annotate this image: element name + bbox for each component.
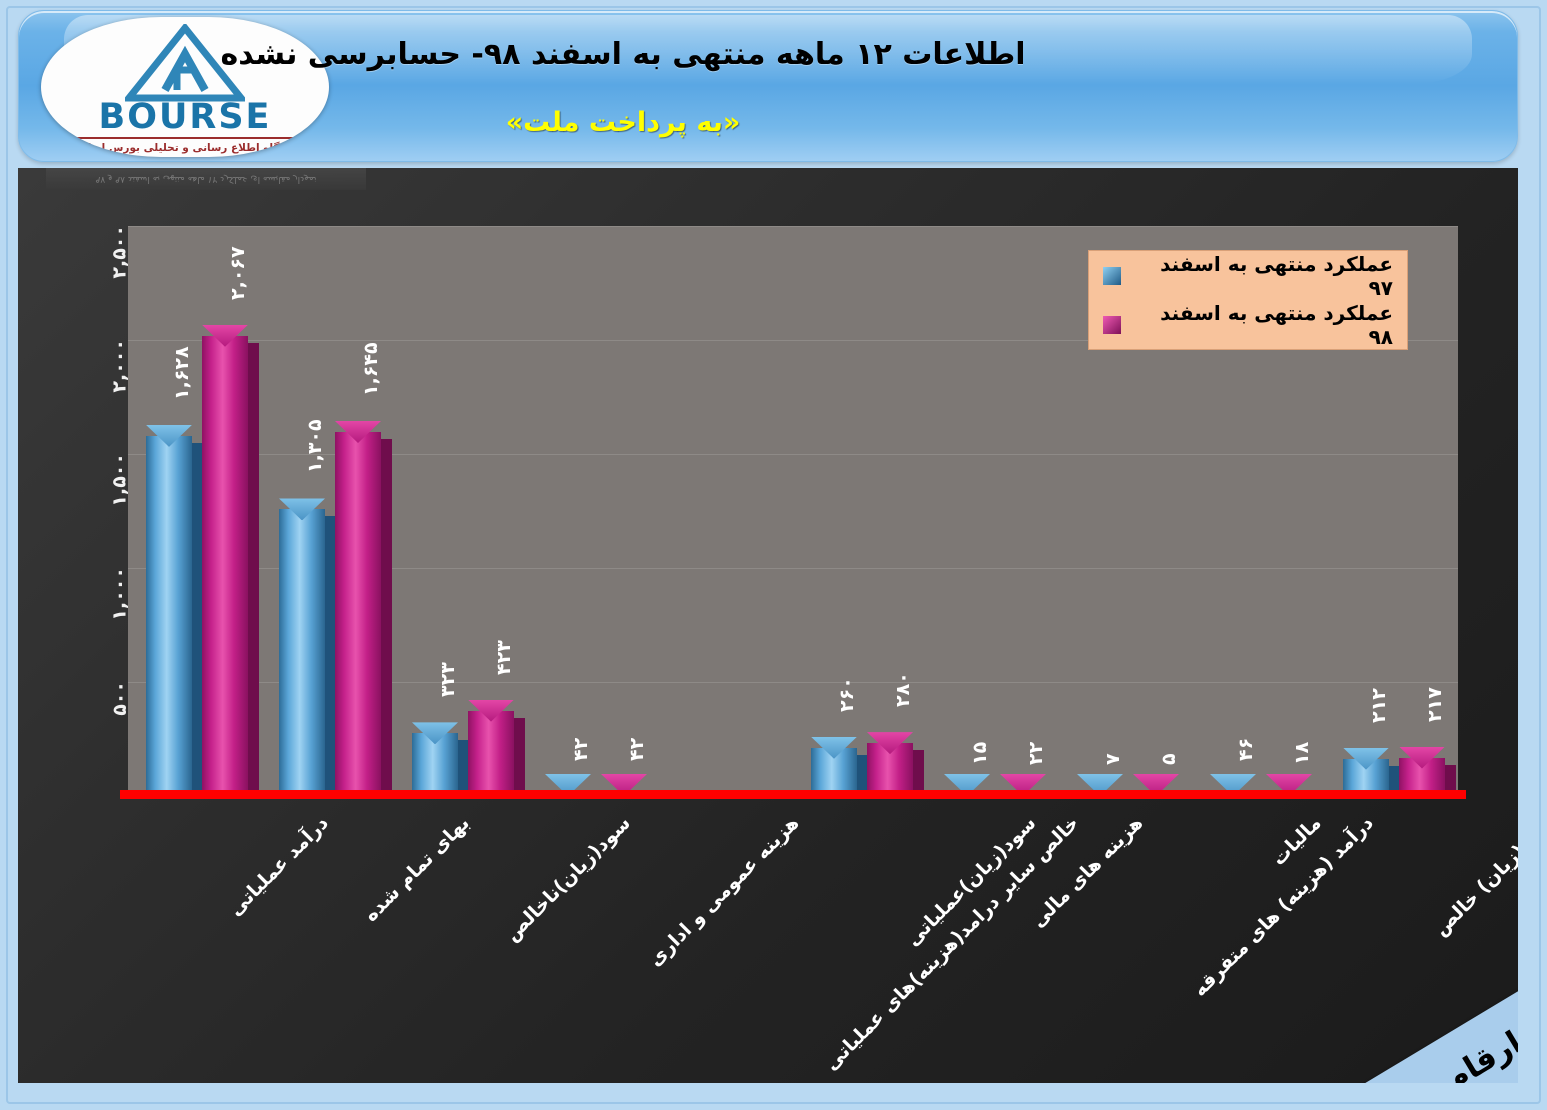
- bar-group: ۲۶۰۲۸۰: [793, 226, 926, 796]
- bar-side-3d: [248, 343, 259, 796]
- y-axis: ۵۰۰۱,۰۰۰۱,۵۰۰۲,۰۰۰۲,۵۰۰: [18, 226, 128, 796]
- bar-series-97[interactable]: [412, 722, 458, 796]
- x-axis-category-label: سود(زیان)ناخالص: [501, 812, 635, 946]
- bar-body: [279, 509, 325, 796]
- bar-group: ۱,۳۰۵۱,۶۴۵: [261, 226, 394, 796]
- bar-value-label: ۴۶: [1235, 737, 1257, 760]
- bar-side-3d: [514, 718, 525, 796]
- bar-series-97[interactable]: [1343, 748, 1389, 796]
- bar-value-label: ۳۲۳: [437, 663, 459, 698]
- bar-series-97[interactable]: [146, 425, 192, 796]
- bar-series-97[interactable]: [279, 498, 325, 796]
- bar-value-label: ۲۱۲: [1368, 688, 1390, 723]
- bar-series-98[interactable]: [1399, 747, 1445, 796]
- bar-series-98[interactable]: [202, 325, 248, 796]
- bar-value-label: ۲۸۰: [892, 672, 914, 707]
- bar-value-label: ۱۵: [969, 742, 991, 765]
- bar-group: ۴۲۴۲: [527, 226, 660, 796]
- bar-series-98[interactable]: [468, 700, 514, 796]
- x-axis-category-label: بهای تمام شده: [360, 812, 474, 926]
- header-banner: BOURSE پایگاه اطلاع رسانی و تحلیلی بورس …: [18, 10, 1518, 162]
- bar-series-98[interactable]: [867, 732, 913, 796]
- x-axis-category-label: درآمد عملیاتی: [224, 812, 332, 920]
- x-axis-category-label: خالص سایر درامد(هزینه)های عملیاتی: [820, 812, 1083, 1075]
- bar-group: ۳۲۳۴۲۳: [394, 226, 527, 796]
- legend-label: عملکرد منتهی به اسفند ۹۸: [1133, 301, 1393, 349]
- bar-body: [468, 711, 514, 796]
- bar-body: [202, 336, 248, 796]
- chart-watermark-text: نمودار مقایسه ای عملکرد ۱۲ ماهه منتهی به…: [46, 168, 366, 190]
- bar-value-label: ۲۲: [1025, 742, 1047, 765]
- bar-value-label: ۴۲: [626, 738, 648, 761]
- page-title: اطلاعات ۱۲ ماهه منتهی به اسفند ۹۸- حسابر…: [59, 37, 1187, 72]
- bar-value-label: ۲۱۷: [1424, 687, 1446, 722]
- x-axis-category-label: هزینه های مالی: [1027, 812, 1147, 932]
- axis-baseline: [120, 790, 1466, 799]
- bar-value-label: ۱,۶۲۸: [171, 346, 193, 400]
- bar-group: ۱,۶۲۸۲,۰۶۷: [128, 226, 261, 796]
- bar-value-label: ۲,۰۶۷: [227, 246, 249, 300]
- x-axis-category-label: سود(زیان) خالص: [1430, 812, 1518, 940]
- bar-value-label: ۵: [1158, 753, 1180, 765]
- page-frame: BOURSE پایگاه اطلاع رسانی و تحلیلی بورس …: [0, 0, 1547, 1110]
- chart-panel: نمودار مقایسه ای عملکرد ۱۲ ماهه منتهی به…: [18, 168, 1518, 1083]
- legend-label: عملکرد منتهی به اسفند ۹۷: [1133, 252, 1393, 300]
- legend-swatch-icon: [1103, 267, 1121, 285]
- bar-group: [660, 226, 793, 796]
- logo-subtitle: پایگاه اطلاع رسانی و تحلیلی بورس ایران: [79, 142, 292, 154]
- chart-legend: عملکرد منتهی به اسفند ۹۷عملکرد منتهی به …: [1088, 250, 1408, 350]
- bar-series-97[interactable]: [811, 737, 857, 796]
- bar-series-98[interactable]: [335, 421, 381, 796]
- bar-body: [146, 436, 192, 796]
- legend-item[interactable]: عملکرد منتهی به اسفند ۹۷: [1089, 251, 1407, 300]
- legend-item[interactable]: عملکرد منتهی به اسفند ۹۸: [1089, 300, 1407, 349]
- bar-value-label: ۱۸: [1291, 742, 1313, 765]
- bar-value-label: ۱,۳۰۵: [304, 420, 326, 474]
- x-axis-category-label: هزینه عمومی و اداری: [644, 812, 803, 971]
- bar-side-3d: [381, 439, 392, 796]
- x-axis-labels: درآمد عملیاتیبهای تمام شدهسود(زیان)ناخال…: [18, 804, 1518, 1083]
- chart-watermark: نمودار مقایسه ای عملکرد ۱۲ ماهه منتهی به…: [46, 168, 366, 190]
- bar-group: ۱۵۲۲: [926, 226, 1059, 796]
- bar-value-label: ۴۲: [570, 738, 592, 761]
- bar-value-label: ۱,۶۴۵: [360, 342, 382, 396]
- bar-value-label: ۲۶۰: [836, 677, 858, 712]
- bar-body: [335, 432, 381, 796]
- legend-swatch-icon: [1103, 316, 1121, 334]
- bar-value-label: ۴۲۳: [493, 640, 515, 675]
- bar-value-label: ۷: [1102, 753, 1124, 765]
- page-subtitle: «به پرداخت ملت»: [59, 107, 1187, 138]
